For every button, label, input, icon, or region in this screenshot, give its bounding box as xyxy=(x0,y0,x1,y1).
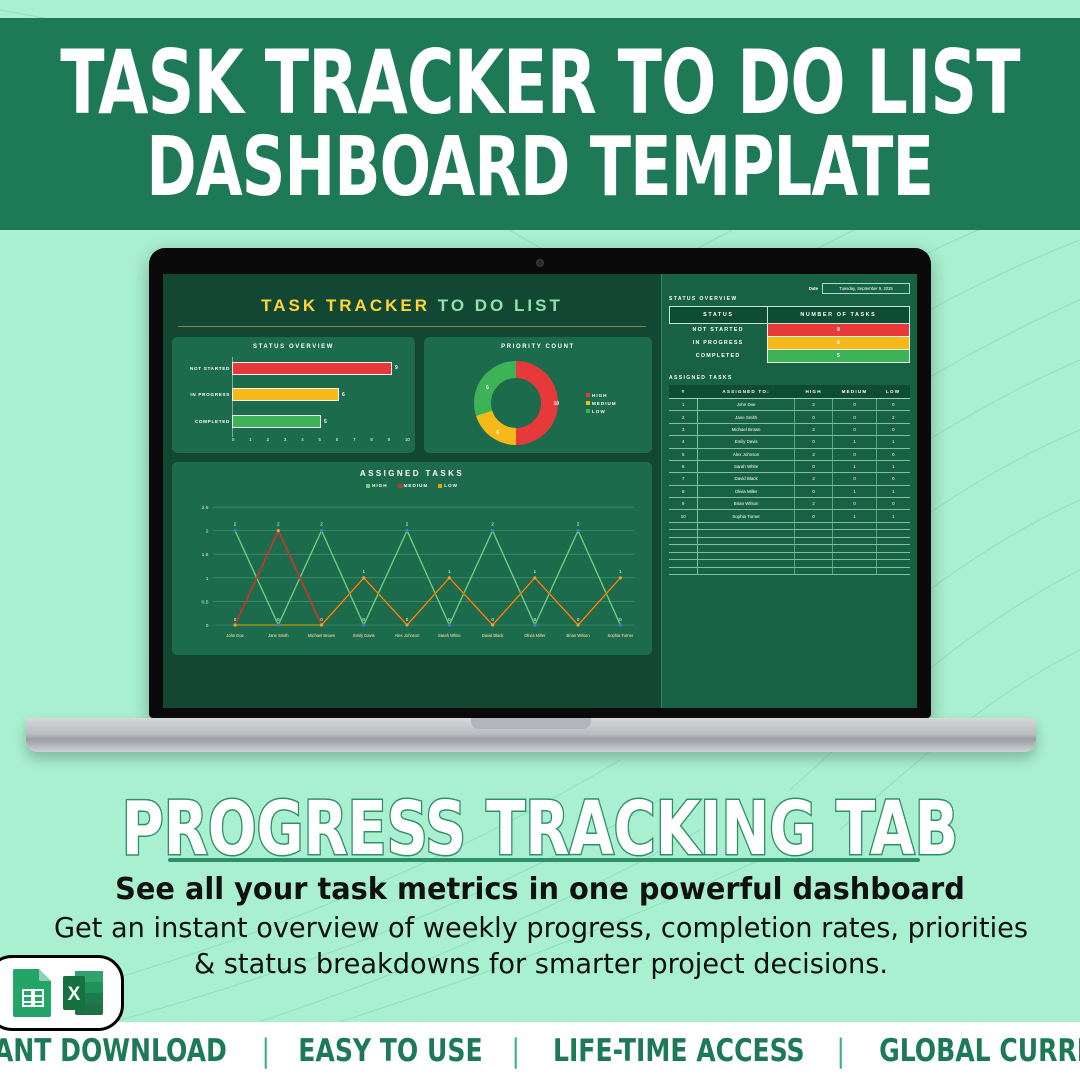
assigned-tasks-table: # ASSIGNED TO: HIGH MEDIUM LOW 1John Doe… xyxy=(669,385,910,575)
cell-name: Sophia Turner xyxy=(698,510,794,522)
cell-medium: 0 xyxy=(833,411,876,423)
svg-text:0.5: 0.5 xyxy=(202,599,209,605)
svg-text:Sarah White: Sarah White xyxy=(438,633,461,638)
microsoft-excel-icon: X xyxy=(61,967,105,1019)
svg-text:Emily Davis: Emily Davis xyxy=(353,633,374,638)
svg-text:David Black: David Black xyxy=(482,633,505,638)
legend-label: HIGH xyxy=(372,483,387,488)
status-bar-chart: NOT STARTED 9 IN PROGRESS 6 xyxy=(180,355,407,451)
cell-medium: 1 xyxy=(833,485,876,497)
cell-medium: 1 xyxy=(833,460,876,472)
dashboard-screen: TASK TRACKER TO DO LIST STATUS OVERVIEW … xyxy=(163,274,917,708)
table-row: IN PROGRESS 6 xyxy=(670,337,910,350)
svg-text:0: 0 xyxy=(406,617,409,622)
header-title-line2: DASHBOARD TEMPLATE xyxy=(147,129,934,207)
col-low: LOW xyxy=(876,385,910,399)
xtick: 0 xyxy=(232,437,234,442)
status-chart-title: STATUS OVERVIEW xyxy=(180,344,407,350)
bar-row: NOT STARTED 9 xyxy=(232,361,407,375)
svg-text:1: 1 xyxy=(619,569,622,574)
bar-label: NOT STARTED xyxy=(180,366,230,371)
xtick: 1 xyxy=(249,437,251,442)
col-assigned-to: ASSIGNED TO: xyxy=(698,385,794,399)
cell-name: Alex Johnson xyxy=(698,448,794,460)
table-row-empty xyxy=(669,552,910,560)
priority-donut-chart: 10 4 6 HIGH M xyxy=(432,355,644,451)
cell-low: 1 xyxy=(876,485,910,497)
cell-name: Emily Davis xyxy=(698,436,794,448)
table-row-empty xyxy=(669,560,910,568)
title-divider xyxy=(178,326,646,327)
footer-item-easy-to-use: EASY TO USE xyxy=(299,1033,483,1069)
legend-label: MEDIUM xyxy=(404,483,429,488)
bar-row: COMPLETED 5 xyxy=(232,415,407,429)
legend-label: MEDIUM xyxy=(592,401,617,406)
promo-tagline: See all your task metrics in one powerfu… xyxy=(22,872,1059,907)
footer-bar: INSTANT DOWNLOAD | EASY TO USE | LIFE-TI… xyxy=(0,1022,1080,1080)
cell-medium: 0 xyxy=(833,399,876,411)
dashboard-title-primary: TASK TRACKER xyxy=(261,296,430,315)
col-index: # xyxy=(669,385,698,399)
bar-chart-xticks: 0 1 2 3 4 5 6 7 8 9 10 xyxy=(232,437,410,442)
cell-low: 0 xyxy=(876,473,910,485)
legend-swatch-icon xyxy=(366,484,370,488)
cell-medium: 0 xyxy=(833,448,876,460)
legend-label: LOW xyxy=(592,409,606,414)
line-chart-legend: HIGH MEDIUM LOW xyxy=(180,483,644,488)
cell-low: 0 xyxy=(876,498,910,510)
cell-high: 0 xyxy=(794,460,833,472)
col-number-of-tasks: NUMBER OF TASKS xyxy=(767,307,909,324)
status-name: COMPLETED xyxy=(670,350,768,363)
webcam-icon xyxy=(536,259,544,267)
col-medium: MEDIUM xyxy=(833,385,876,399)
footer-divider: | xyxy=(512,1033,520,1069)
assigned-tasks-chart-card: ASSIGNED TASKS HIGH MEDIUM LOW xyxy=(172,462,652,655)
svg-text:2: 2 xyxy=(320,522,323,527)
cell-high: 2 xyxy=(794,498,833,510)
xtick: 9 xyxy=(388,437,390,442)
status-overview-chart-card: STATUS OVERVIEW NOT STARTED 9 IN xyxy=(172,337,415,453)
cell-name: Olivia Miller xyxy=(698,485,794,497)
table-row: 5Alex Johnson200 xyxy=(669,448,910,460)
bar-fill-in-progress xyxy=(232,388,339,401)
cell-high: 2 xyxy=(794,448,833,460)
table-row: COMPLETED 5 xyxy=(670,350,910,363)
cell-name: John Doe xyxy=(698,399,794,411)
footer-item-global-currency: GLOBAL CURRENCY xyxy=(879,1033,1080,1069)
table-header-row: # ASSIGNED TO: HIGH MEDIUM LOW xyxy=(669,385,910,399)
table-header-row: STATUS NUMBER OF TASKS xyxy=(670,307,910,324)
bar-fill-completed xyxy=(232,415,321,428)
table-row: NOT STARTED 9 xyxy=(670,324,910,337)
cell-high: 0 xyxy=(794,510,833,522)
svg-text:2: 2 xyxy=(234,522,237,527)
cell-index: 6 xyxy=(669,460,698,472)
svg-text:2: 2 xyxy=(577,522,580,527)
svg-text:Jane Smith: Jane Smith xyxy=(268,633,289,638)
status-count: 5 xyxy=(767,350,909,363)
table-row-empty xyxy=(669,567,910,575)
table-row: 4Emily Davis011 xyxy=(669,436,910,448)
bar-fill-not-started xyxy=(232,362,392,375)
priority-count-chart-card: PRIORITY COUNT 10 4 6 HIGH xyxy=(424,337,652,453)
table-row-empty xyxy=(669,545,910,553)
dashboard-right-panel: Date Tuesday, September 9, 2025 STATUS O… xyxy=(661,274,917,708)
svg-text:0: 0 xyxy=(577,617,580,622)
bar-value: 9 xyxy=(395,365,398,371)
legend-swatch-icon xyxy=(438,484,442,488)
charts-row: STATUS OVERVIEW NOT STARTED 9 IN xyxy=(172,337,652,453)
cell-medium: 0 xyxy=(833,498,876,510)
promo-subtitle-underline xyxy=(168,858,920,862)
xtick: 8 xyxy=(370,437,372,442)
col-status: STATUS xyxy=(670,307,768,324)
priority-legend: HIGH MEDIUM LOW xyxy=(586,393,617,414)
cell-low: 1 xyxy=(876,510,910,522)
google-sheets-icon xyxy=(11,967,55,1019)
cell-high: 2 xyxy=(794,473,833,485)
header-title-line1: TASK TRACKER TO DO LIST xyxy=(60,41,1019,125)
legend-item-medium: MEDIUM xyxy=(586,401,617,406)
svg-text:X: X xyxy=(68,984,81,1005)
cell-name: David Black xyxy=(698,473,794,485)
cell-index: 1 xyxy=(669,399,698,411)
svg-text:0: 0 xyxy=(206,623,209,629)
cell-high: 0 xyxy=(794,436,833,448)
bar-value: 5 xyxy=(324,419,327,425)
bar-rows: NOT STARTED 9 IN PROGRESS 6 xyxy=(232,355,407,435)
svg-text:1: 1 xyxy=(534,569,537,574)
col-high: HIGH xyxy=(794,385,833,399)
cell-low: 1 xyxy=(876,436,910,448)
svg-text:1: 1 xyxy=(206,576,209,582)
svg-text:Alex Johnson: Alex Johnson xyxy=(395,633,420,638)
header-banner: TASK TRACKER TO DO LIST DASHBOARD TEMPLA… xyxy=(0,18,1080,230)
dashboard-title-secondary: TO DO LIST xyxy=(438,296,563,315)
priority-chart-title: PRIORITY COUNT xyxy=(432,344,644,350)
table-row-empty xyxy=(669,530,910,538)
cell-high: 0 xyxy=(794,485,833,497)
cell-high: 2 xyxy=(794,399,833,411)
footer-divider: | xyxy=(261,1033,269,1069)
svg-text:2: 2 xyxy=(491,522,494,527)
laptop-lid: TASK TRACKER TO DO LIST STATUS OVERVIEW … xyxy=(149,248,931,718)
cell-low: 2 xyxy=(876,411,910,423)
legend-item-low: LOW xyxy=(586,409,617,414)
cell-index: 9 xyxy=(669,498,698,510)
legend-label: HIGH xyxy=(592,393,607,398)
table-row-empty xyxy=(669,537,910,545)
legend-swatch-icon xyxy=(586,393,590,397)
footer-item-instant-download: INSTANT DOWNLOAD xyxy=(0,1033,227,1069)
cell-high: 2 xyxy=(794,423,833,435)
cell-medium: 0 xyxy=(833,423,876,435)
status-count: 9 xyxy=(767,324,909,337)
legend-item-high: HIGH xyxy=(586,393,617,398)
bar-label: IN PROGRESS xyxy=(180,392,230,397)
table-row: 2Jane Smith002 xyxy=(669,411,910,423)
promo-description-line1: Get an instant overview of weekly progre… xyxy=(51,910,1031,946)
cell-index: 7 xyxy=(669,473,698,485)
cell-medium: 1 xyxy=(833,436,876,448)
bar-label: COMPLETED xyxy=(180,419,230,424)
donut-ring: 10 4 6 xyxy=(474,361,558,445)
table-row: 6Sarah White011 xyxy=(669,460,910,472)
promo-description: Get an instant overview of weekly progre… xyxy=(51,910,1031,983)
donut-value-high: 10 xyxy=(553,401,559,407)
bar-value: 6 xyxy=(342,392,345,398)
status-overview-section-title: STATUS OVERVIEW xyxy=(669,296,910,302)
legend-label: LOW xyxy=(444,483,458,488)
xtick: 4 xyxy=(301,437,303,442)
svg-text:1: 1 xyxy=(448,569,451,574)
cell-name: Michael Brown xyxy=(698,423,794,435)
table-row: 3Michael Brown200 xyxy=(669,423,910,435)
cell-index: 3 xyxy=(669,423,698,435)
bar-row: IN PROGRESS 6 xyxy=(232,388,407,402)
svg-text:John Doe: John Doe xyxy=(226,633,244,638)
status-summary-table: STATUS NUMBER OF TASKS NOT STARTED 9 IN … xyxy=(669,306,910,363)
compatibility-badges: X xyxy=(0,955,124,1031)
svg-text:2: 2 xyxy=(406,522,409,527)
promo-description-line2: & status breakdowns for smarter project … xyxy=(51,946,1031,982)
cell-name: Brian Wilson xyxy=(698,498,794,510)
table-row: 9Brian Wilson200 xyxy=(669,498,910,510)
svg-text:0: 0 xyxy=(619,617,622,622)
status-count: 6 xyxy=(767,337,909,350)
cell-low: 0 xyxy=(876,423,910,435)
svg-text:2: 2 xyxy=(206,529,209,535)
svg-text:Brian Wilson: Brian Wilson xyxy=(567,633,591,638)
xtick: 5 xyxy=(318,437,320,442)
line-chart-title: ASSIGNED TASKS xyxy=(180,469,644,478)
footer-item-lifetime-access: LIFE-TIME ACCESS xyxy=(553,1033,805,1069)
svg-text:0: 0 xyxy=(491,617,494,622)
assigned-tasks-section-title: ASSIGNED TASKS xyxy=(669,375,910,381)
svg-text:1: 1 xyxy=(363,569,366,574)
table-row: 8Olivia Miller011 xyxy=(669,485,910,497)
cell-index: 10 xyxy=(669,510,698,522)
svg-text:Sophia Turner: Sophia Turner xyxy=(607,633,633,638)
svg-text:2: 2 xyxy=(277,522,280,527)
cell-high: 0 xyxy=(794,411,833,423)
status-name: NOT STARTED xyxy=(670,324,768,337)
cell-low: 1 xyxy=(876,460,910,472)
laptop-base xyxy=(26,718,1036,752)
table-row: 10Sophia Turner011 xyxy=(669,510,910,522)
legend-item-low: LOW xyxy=(438,483,458,488)
cell-name: Sarah White xyxy=(698,460,794,472)
legend-swatch-icon xyxy=(586,401,590,405)
donut-value-low: 6 xyxy=(486,385,489,391)
xtick: 3 xyxy=(284,437,286,442)
xtick: 10 xyxy=(405,437,410,442)
svg-text:2.5: 2.5 xyxy=(202,505,209,511)
svg-text:0: 0 xyxy=(320,617,323,622)
cell-name: Jane Smith xyxy=(698,411,794,423)
cell-index: 8 xyxy=(669,485,698,497)
xtick: 2 xyxy=(267,437,269,442)
cell-low: 0 xyxy=(876,399,910,411)
table-row-empty xyxy=(669,522,910,530)
donut-value-medium: 4 xyxy=(496,430,499,436)
date-label: Date xyxy=(809,286,818,291)
date-value-field[interactable]: Tuesday, September 9, 2025 xyxy=(822,283,910,294)
legend-swatch-icon xyxy=(586,409,590,413)
cell-index: 2 xyxy=(669,411,698,423)
dashboard-left-column: TASK TRACKER TO DO LIST STATUS OVERVIEW … xyxy=(163,274,661,708)
dashboard-title: TASK TRACKER TO DO LIST xyxy=(172,282,652,324)
status-name: IN PROGRESS xyxy=(670,337,768,350)
cell-low: 0 xyxy=(876,448,910,460)
svg-text:1.5: 1.5 xyxy=(202,552,209,558)
cell-medium: 0 xyxy=(833,473,876,485)
xtick: 7 xyxy=(353,437,355,442)
table-row: 1John Doe200 xyxy=(669,399,910,411)
legend-item-medium: MEDIUM xyxy=(398,483,429,488)
footer-divider: | xyxy=(837,1033,845,1069)
svg-text:Olivia Miller: Olivia Miller xyxy=(524,633,546,638)
cell-index: 4 xyxy=(669,436,698,448)
table-row: 7David Black200 xyxy=(669,473,910,485)
cell-index: 5 xyxy=(669,448,698,460)
laptop-mockup: TASK TRACKER TO DO LIST STATUS OVERVIEW … xyxy=(140,248,940,752)
legend-item-high: HIGH xyxy=(366,483,387,488)
assigned-tasks-line-chart: 2.52 1.51 0.50 xyxy=(180,492,642,642)
legend-swatch-icon xyxy=(398,484,402,488)
date-row: Date Tuesday, September 9, 2025 xyxy=(669,283,910,294)
svg-text:Michael Brown: Michael Brown xyxy=(308,633,336,638)
cell-medium: 1 xyxy=(833,510,876,522)
xtick: 6 xyxy=(336,437,338,442)
